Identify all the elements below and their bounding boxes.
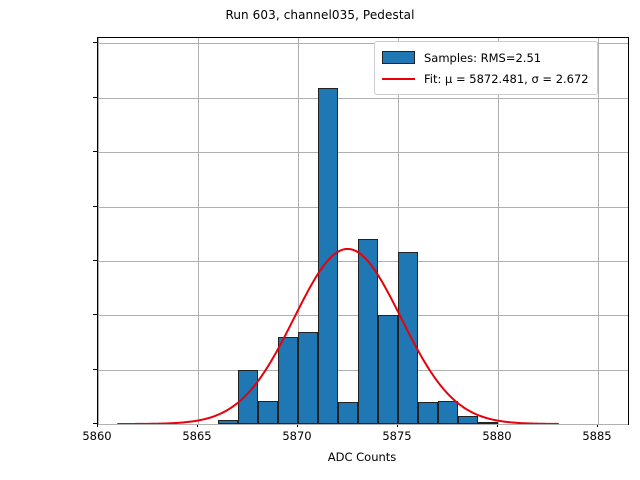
histogram-bar xyxy=(458,416,478,424)
legend-patch-icon xyxy=(382,51,415,64)
histogram-bar xyxy=(258,401,278,424)
gridline-horizontal xyxy=(98,207,628,208)
histogram-bar xyxy=(318,88,338,424)
x-tick-label: 5875 xyxy=(382,429,411,443)
histogram-figure: Run 603, channel035, Pedestal Entries AD… xyxy=(0,0,640,480)
gridline-vertical xyxy=(598,38,599,424)
x-tick-label: 5885 xyxy=(582,429,611,443)
histogram-bar xyxy=(478,422,498,424)
x-tick-label: 5860 xyxy=(82,429,111,443)
legend-label-fit: Fit: μ = 5872.481, σ = 2.672 xyxy=(424,72,589,86)
gridline-horizontal xyxy=(98,424,628,425)
legend-label-samples: Samples: RMS=2.51 xyxy=(424,51,541,65)
histogram-bar xyxy=(378,315,398,424)
gridline-horizontal xyxy=(98,152,628,153)
gridline-vertical xyxy=(198,38,199,424)
gridline-vertical xyxy=(98,38,99,424)
gridline-horizontal xyxy=(98,98,628,99)
histogram-bar xyxy=(338,402,358,424)
histogram-bar xyxy=(438,401,458,424)
legend-line-icon xyxy=(382,78,415,80)
plot-area xyxy=(97,37,629,425)
x-tick-label: 5865 xyxy=(182,429,211,443)
gridline-vertical xyxy=(498,38,499,424)
chart-title: Run 603, channel035, Pedestal xyxy=(0,8,640,22)
x-tick-label: 5880 xyxy=(482,429,511,443)
histogram-bar xyxy=(278,337,298,424)
histogram-bar xyxy=(398,252,418,424)
histogram-bar xyxy=(238,370,258,424)
legend-item-fit: Fit: μ = 5872.481, σ = 2.672 xyxy=(382,68,589,89)
x-tick-label: 5870 xyxy=(282,429,311,443)
histogram-bar xyxy=(418,402,438,424)
chart-legend: Samples: RMS=2.51 Fit: μ = 5872.481, σ =… xyxy=(374,41,598,95)
histogram-bar xyxy=(218,420,238,424)
histogram-bar xyxy=(298,332,318,424)
y-axis-label: Entries xyxy=(0,190,2,230)
x-axis-label: ADC Counts xyxy=(97,450,627,464)
histogram-bar xyxy=(358,239,378,424)
legend-item-samples: Samples: RMS=2.51 xyxy=(382,47,589,68)
